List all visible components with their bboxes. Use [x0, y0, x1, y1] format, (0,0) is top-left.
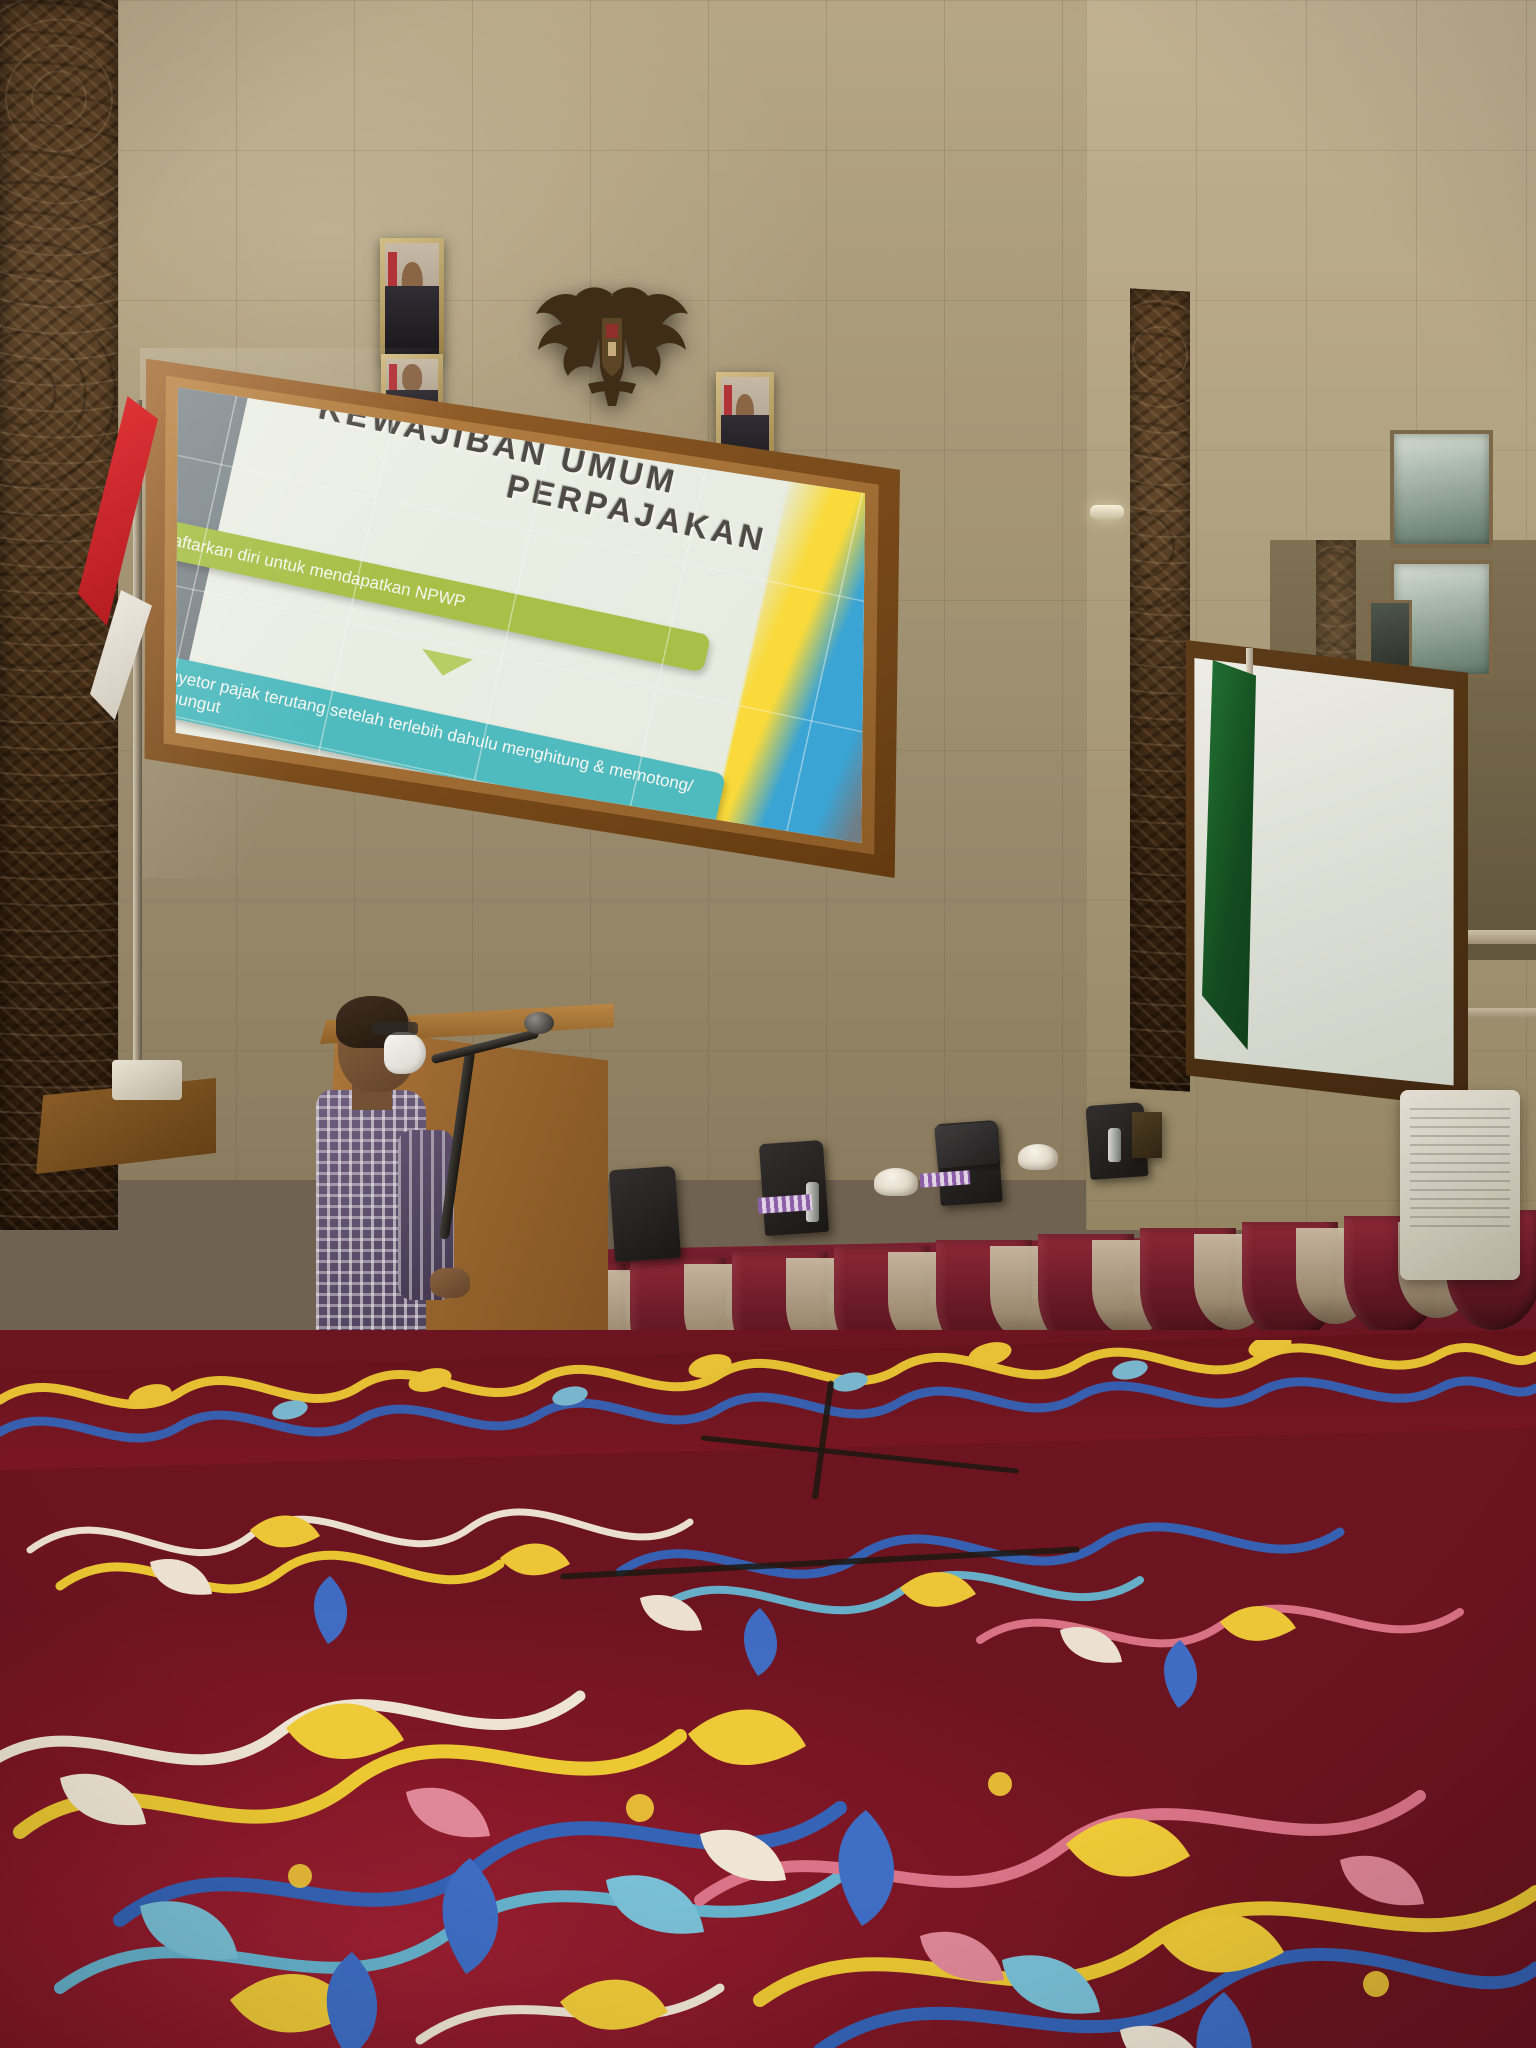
presenter-hand — [430, 1268, 470, 1298]
president-portrait — [380, 238, 444, 360]
floor-monitor-speaker — [112, 1060, 182, 1100]
podium-microphone[interactable] — [524, 1012, 554, 1034]
laptop[interactable] — [934, 1121, 999, 1168]
pa-speaker-box — [1132, 1112, 1162, 1158]
clerestory-window — [1390, 430, 1493, 548]
face-mask — [384, 1032, 426, 1074]
slide-box-register: Mendaftarkan diri untuk mendapatkan NPWP — [140, 510, 711, 673]
arrow-down-icon — [417, 648, 473, 680]
executive-chair[interactable] — [609, 1166, 681, 1262]
wall-sconce-light — [1090, 505, 1124, 519]
decorative-vase — [874, 1168, 918, 1196]
carved-wood-pilaster — [1130, 288, 1190, 1091]
projection-screen[interactable]: KEWAJIBAN UMUM PERPAJAKAN Mendaftarkan d… — [140, 348, 900, 878]
floor-standing-air-conditioner — [1400, 1090, 1520, 1280]
photo-scene: KEWAJIBAN UMUM PERPAJAKAN Mendaftarkan d… — [0, 0, 1536, 2048]
eyeglasses — [372, 1022, 418, 1035]
water-bottle[interactable] — [1108, 1128, 1121, 1162]
decorative-vase — [1018, 1144, 1058, 1170]
slide-box-pay: Menyetor pajak terutang setelah terlebih… — [140, 649, 726, 832]
